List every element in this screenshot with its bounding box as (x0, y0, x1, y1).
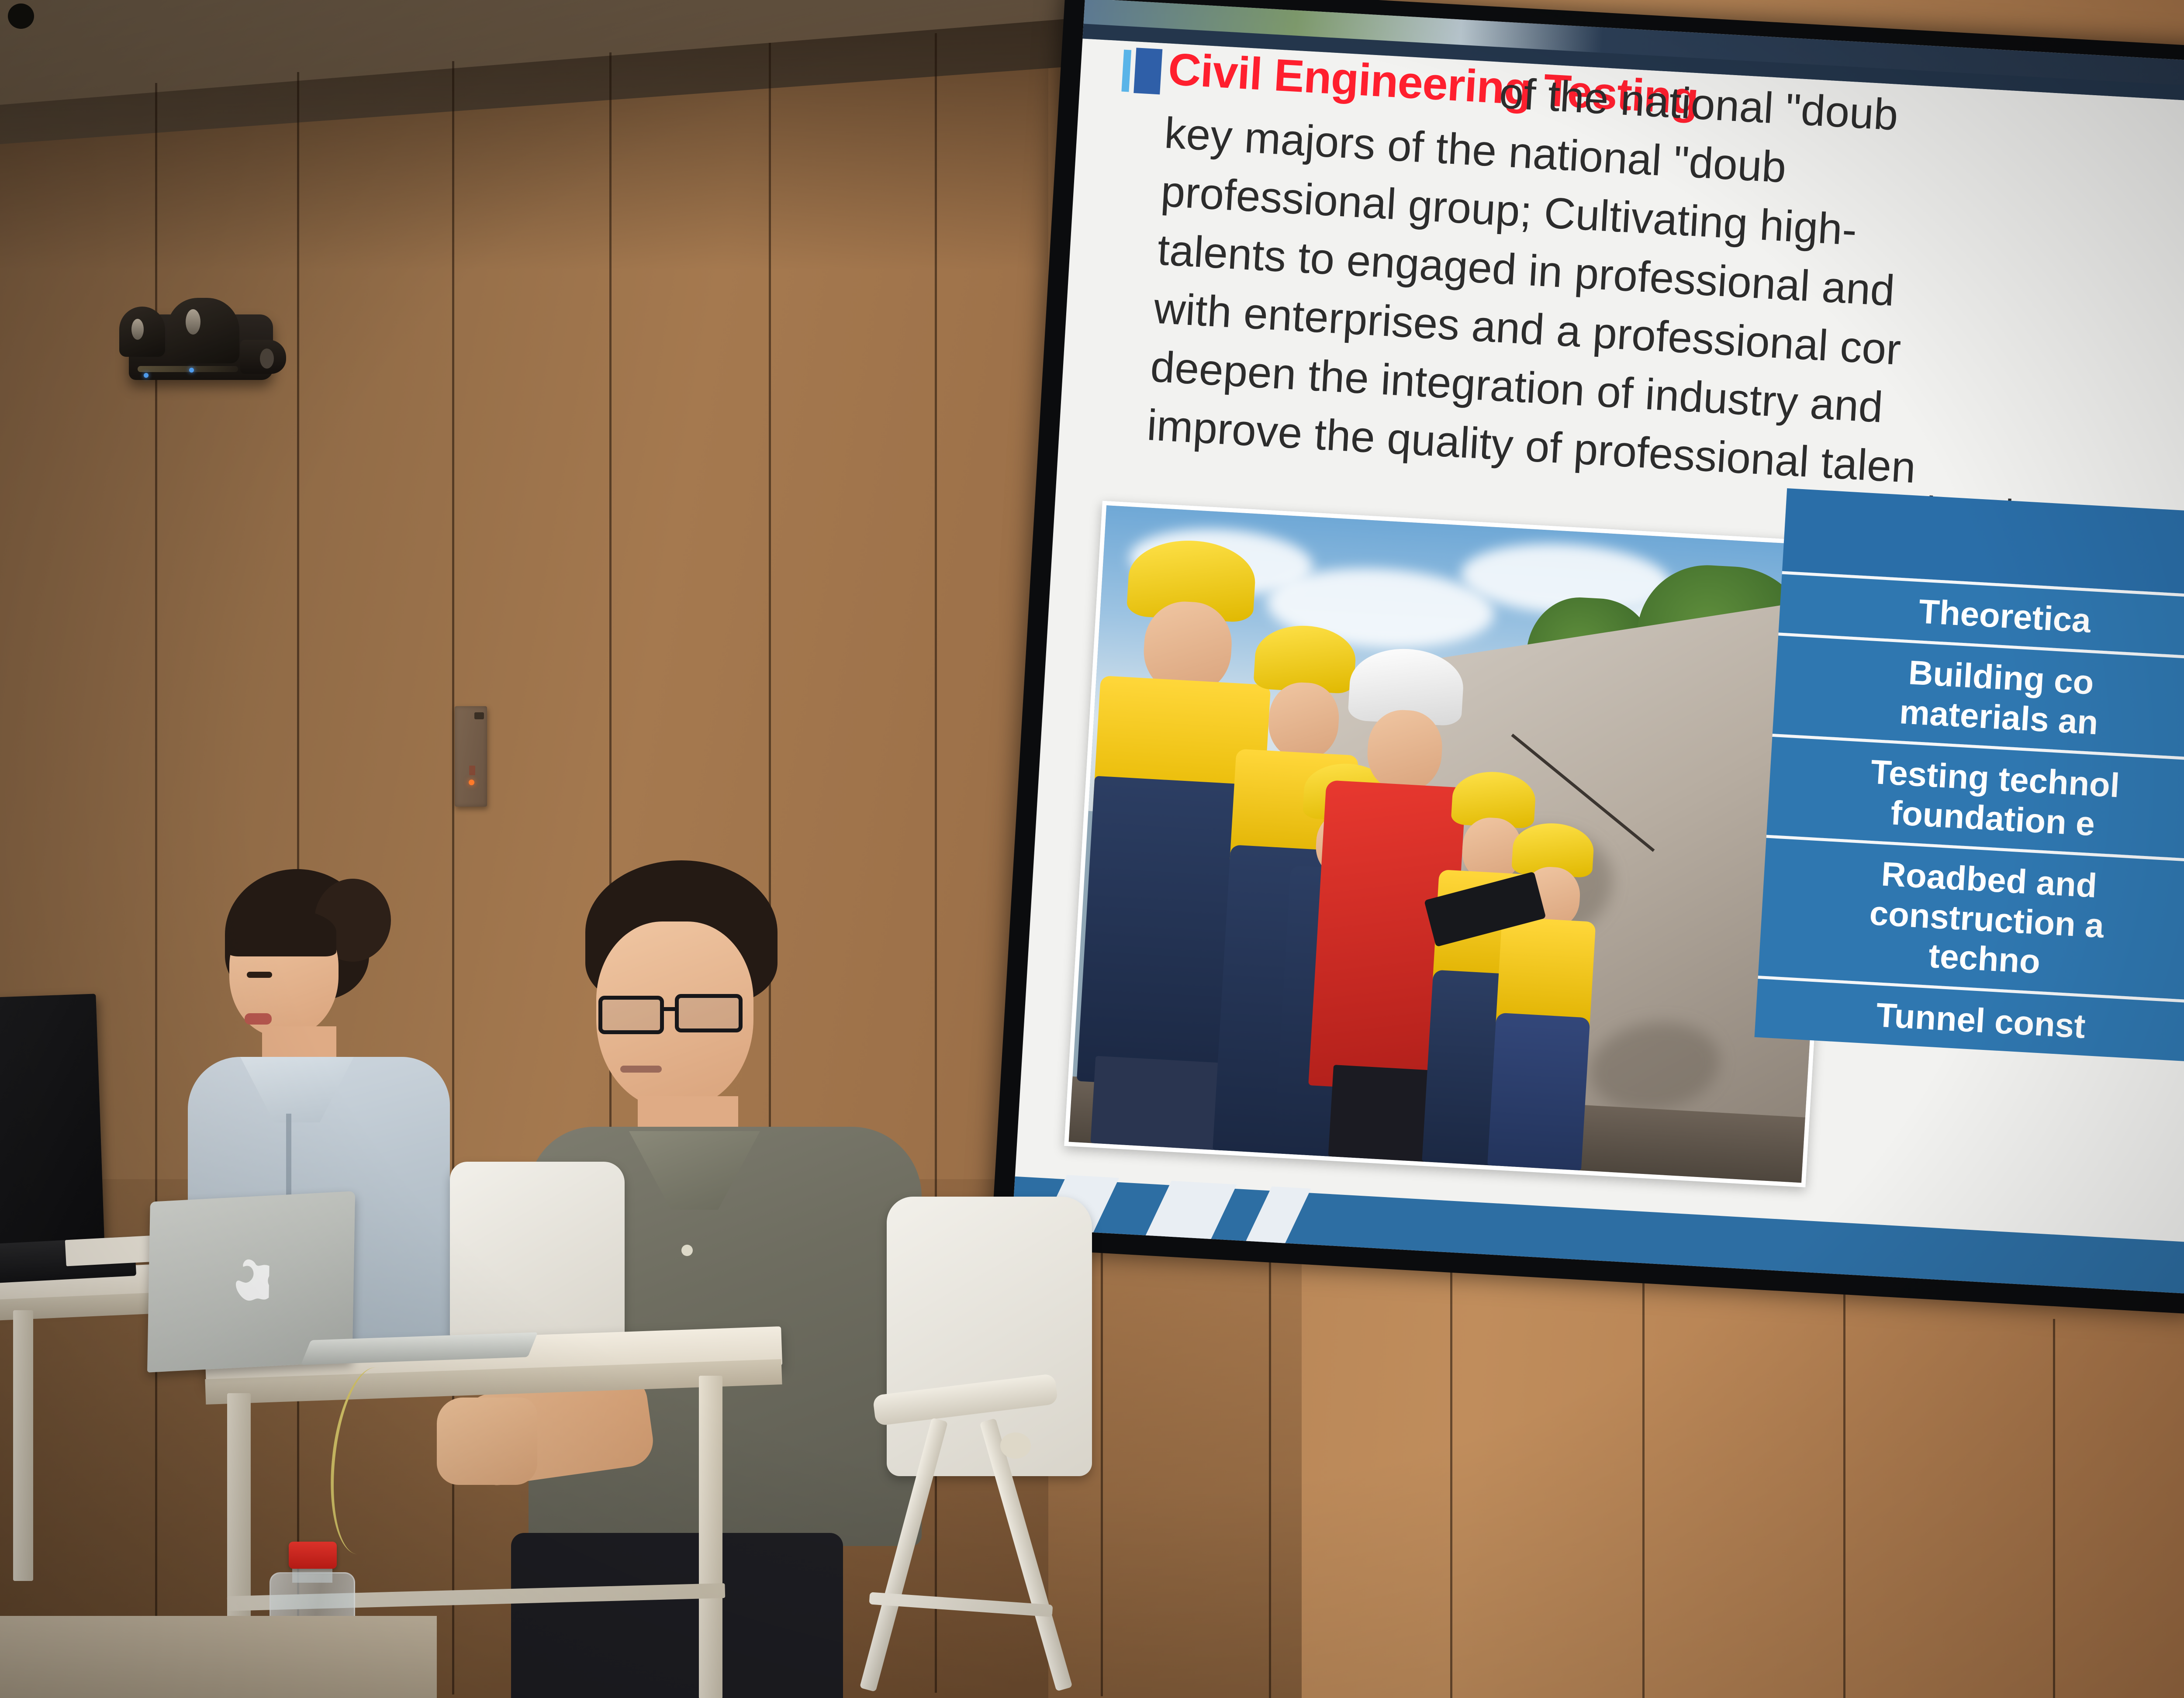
wall-seam (1642, 1258, 1645, 1698)
front-desk-leg (699, 1376, 722, 1698)
slide-table: Theoretica Building co materials an Test… (1755, 488, 2184, 1062)
shirt-button (681, 1245, 693, 1256)
glasses-icon (598, 991, 743, 1039)
ceiling-sensor-icon (8, 3, 34, 29)
plate-marking (469, 766, 475, 775)
wall-seam (1843, 1288, 1845, 1698)
lips (245, 1013, 272, 1025)
projection-screen[interactable]: Civil Engineering Testing of the nationa… (988, 0, 2184, 1349)
wall-seam (2053, 1319, 2055, 1698)
desktop-monitor (0, 994, 105, 1264)
mouth (620, 1066, 662, 1073)
back-desk-leg (13, 1310, 33, 1581)
ceiling-camera-icon (116, 288, 288, 395)
bottle-cap (289, 1542, 337, 1569)
presentation-slide: Civil Engineering Testing of the nationa… (1012, 0, 2184, 1294)
table-row: Roadbed and construction a techno (1758, 835, 2184, 1001)
floor (0, 1616, 437, 1698)
conference-room-scene: Civil Engineering Testing of the nationa… (0, 0, 2184, 1698)
slide-photo (1064, 501, 1844, 1187)
eye (247, 972, 272, 978)
camera-led-indicator (189, 368, 194, 373)
legs (511, 1533, 843, 1698)
plate-led-indicator (469, 780, 474, 785)
slide-body-text: of the national "doub key majors of the … (1145, 45, 2184, 514)
plate-slot-icon (474, 712, 484, 719)
camera-led-indicator (144, 373, 149, 378)
white-folding-chair[interactable] (817, 1170, 1158, 1698)
hair-front (227, 908, 336, 956)
wall-control-plate[interactable] (455, 706, 487, 807)
bullet-marker-icon (1121, 47, 1162, 97)
white-folding-chair-back[interactable] (450, 1162, 633, 1467)
chair-pivot (1000, 1432, 1031, 1459)
